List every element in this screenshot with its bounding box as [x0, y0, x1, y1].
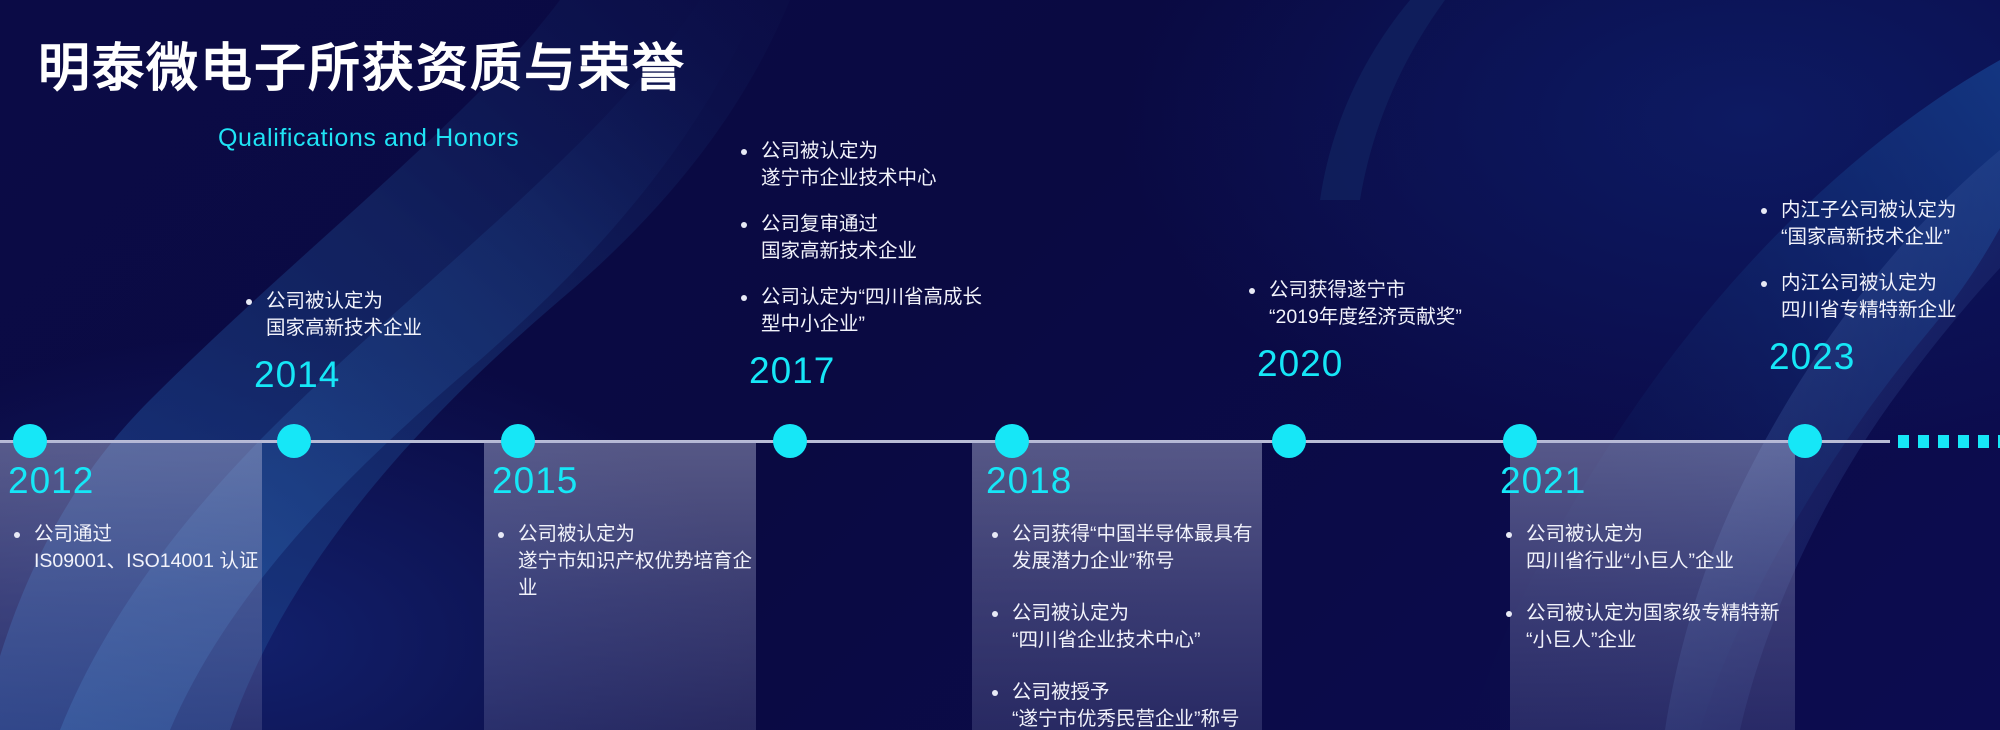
- milestone-2012[interactable]: 2012 公司通过 IS09001、ISO14001 认证: [8, 462, 288, 600]
- milestone-year-2023: 2023: [1769, 338, 2000, 375]
- bullet-item: 公司被认定为 遂宁市知识产权优势培育企 业: [492, 521, 774, 602]
- axis-dash-icon: [1978, 435, 1989, 448]
- milestone-year-2012: 2012: [8, 462, 288, 499]
- bullet-item: 公司认定为“四川省高成长 型中小企业”: [735, 284, 1025, 338]
- timeline-dot-2020[interactable]: [1272, 424, 1306, 458]
- milestone-2014[interactable]: 公司被认定为 国家高新技术企业 2014: [240, 288, 490, 393]
- milestone-bullets-2023: 内江子公司被认定为 “国家高新技术企业” 内江公司被认定为 四川省专精特新企业: [1755, 197, 2000, 324]
- bullet-item: 公司通过 IS09001、ISO14001 认证: [8, 521, 288, 575]
- timeline-axis-dashes: [1898, 435, 2000, 448]
- timeline-dot-2021[interactable]: [1503, 424, 1537, 458]
- bullet-item: 公司获得“中国半导体最具有 发展潜力企业”称号: [986, 521, 1282, 575]
- milestone-2023[interactable]: 内江子公司被认定为 “国家高新技术企业” 内江公司被认定为 四川省专精特新企业 …: [1755, 197, 2000, 375]
- milestone-bullets-2012: 公司通过 IS09001、ISO14001 认证: [8, 521, 288, 575]
- bullet-item: 公司被认定为国家级专精特新 “小巨人”企业: [1500, 600, 1820, 654]
- bullet-item: 公司复审通过 国家高新技术企业: [735, 211, 1025, 265]
- timeline-dot-2015[interactable]: [501, 424, 535, 458]
- timeline-dot-2014[interactable]: [277, 424, 311, 458]
- bullet-item: 公司被认定为 四川省行业“小巨人”企业: [1500, 521, 1820, 575]
- timeline-dot-2023[interactable]: [1788, 424, 1822, 458]
- milestone-bullets-2015: 公司被认定为 遂宁市知识产权优势培育企 业: [492, 521, 774, 602]
- milestone-year-2017: 2017: [749, 352, 1025, 389]
- milestone-bullets-2017: 公司被认定为 遂宁市企业技术中心 公司复审通过 国家高新技术企业 公司认定为“四…: [735, 138, 1025, 338]
- timeline-dot-2018[interactable]: [995, 424, 1029, 458]
- timeline-dot-2017[interactable]: [773, 424, 807, 458]
- bullet-item: 公司被认定为 国家高新技术企业: [240, 288, 490, 342]
- milestone-bullets-2021: 公司被认定为 四川省行业“小巨人”企业 公司被认定为国家级专精特新 “小巨人”企…: [1500, 521, 1820, 654]
- axis-dash-icon: [1898, 435, 1909, 448]
- milestone-year-2018: 2018: [986, 462, 1282, 499]
- milestone-2018[interactable]: 2018 公司获得“中国半导体最具有 发展潜力企业”称号 公司被认定为 “四川省…: [986, 462, 1282, 730]
- milestone-bullets-2014: 公司被认定为 国家高新技术企业: [240, 288, 490, 342]
- bullet-item: 内江子公司被认定为 “国家高新技术企业”: [1755, 197, 2000, 251]
- milestone-2017[interactable]: 公司被认定为 遂宁市企业技术中心 公司复审通过 国家高新技术企业 公司认定为“四…: [735, 138, 1025, 389]
- milestone-bullets-2018: 公司获得“中国半导体最具有 发展潜力企业”称号 公司被认定为 “四川省企业技术中…: [986, 521, 1282, 730]
- timeline-dot-2012[interactable]: [13, 424, 47, 458]
- axis-dash-icon: [1958, 435, 1969, 448]
- bullet-item: 内江公司被认定为 四川省专精特新企业: [1755, 270, 2000, 324]
- milestone-year-2020: 2020: [1257, 345, 1533, 382]
- milestone-year-2021: 2021: [1500, 462, 1820, 499]
- bullet-item: 公司被授予 “遂宁市优秀民营企业”称号: [986, 679, 1282, 730]
- bullet-item: 公司被认定为 “四川省企业技术中心”: [986, 600, 1282, 654]
- bullet-item: 公司获得遂宁市 “2019年度经济贡献奖”: [1243, 277, 1533, 331]
- milestone-2015[interactable]: 2015 公司被认定为 遂宁市知识产权优势培育企 业: [492, 462, 774, 627]
- milestone-2021[interactable]: 2021 公司被认定为 四川省行业“小巨人”企业 公司被认定为国家级专精特新 “…: [1500, 462, 1820, 679]
- slide-canvas: 明泰微电子所获资质与荣誉 Qualifications and Honors 2…: [0, 0, 2000, 730]
- milestone-year-2015: 2015: [492, 462, 774, 499]
- bullet-item: 公司被认定为 遂宁市企业技术中心: [735, 138, 1025, 192]
- milestone-year-2014: 2014: [254, 356, 490, 393]
- milestone-bullets-2020: 公司获得遂宁市 “2019年度经济贡献奖”: [1243, 277, 1533, 331]
- page-title: 明泰微电子所获资质与荣誉: [38, 26, 686, 101]
- axis-dash-icon: [1938, 435, 1949, 448]
- page-subtitle: Qualifications and Honors: [218, 124, 519, 153]
- axis-dash-icon: [1918, 435, 1929, 448]
- milestone-2020[interactable]: 公司获得遂宁市 “2019年度经济贡献奖” 2020: [1243, 277, 1533, 382]
